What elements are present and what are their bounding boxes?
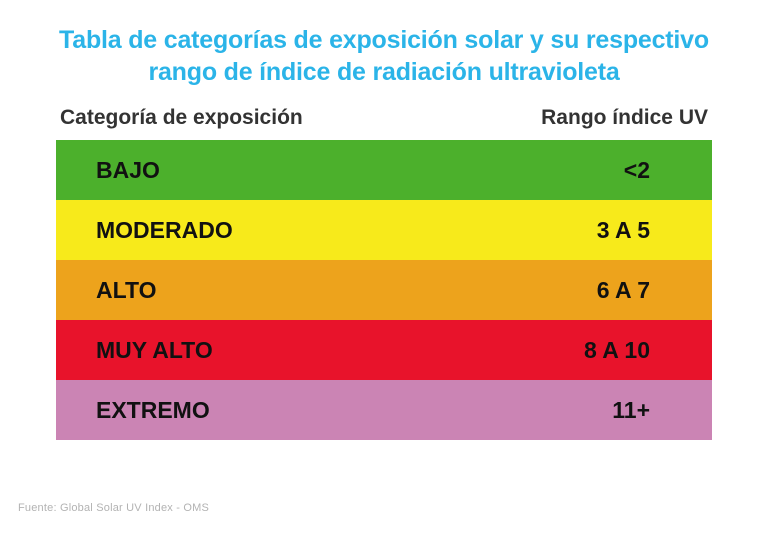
cell-uv-range: 3 A 5 <box>471 217 712 244</box>
table-row: MODERADO 3 A 5 <box>56 200 712 260</box>
table-header-row: Categoría de exposición Rango índice UV <box>56 106 712 140</box>
column-header-category: Categoría de exposición <box>56 106 475 130</box>
cell-uv-range: 6 A 7 <box>471 277 712 304</box>
uv-index-table-page: Tabla de categorías de exposición solar … <box>0 0 768 540</box>
uv-table: Categoría de exposición Rango índice UV … <box>56 88 712 440</box>
table-row: BAJO <2 <box>56 140 712 200</box>
cell-category: ALTO <box>56 277 471 304</box>
cell-category: MUY ALTO <box>56 337 471 364</box>
page-title-line-2: rango de índice de radiación ultraviolet… <box>0 56 768 88</box>
table-row: EXTREMO 11+ <box>56 380 712 440</box>
table-row: MUY ALTO 8 A 10 <box>56 320 712 380</box>
page-title-line-1: Tabla de categorías de exposición solar … <box>0 24 768 56</box>
table-row: ALTO 6 A 7 <box>56 260 712 320</box>
source-note: Fuente: Global Solar UV Index - OMS <box>18 502 209 514</box>
cell-category: BAJO <box>56 157 471 184</box>
cell-uv-range: 8 A 10 <box>471 337 712 364</box>
page-title: Tabla de categorías de exposición solar … <box>0 0 768 88</box>
cell-uv-range: 11+ <box>471 397 712 424</box>
cell-uv-range: <2 <box>471 157 712 184</box>
column-header-uv-range: Rango índice UV <box>475 106 712 130</box>
cell-category: EXTREMO <box>56 397 471 424</box>
cell-category: MODERADO <box>56 217 471 244</box>
